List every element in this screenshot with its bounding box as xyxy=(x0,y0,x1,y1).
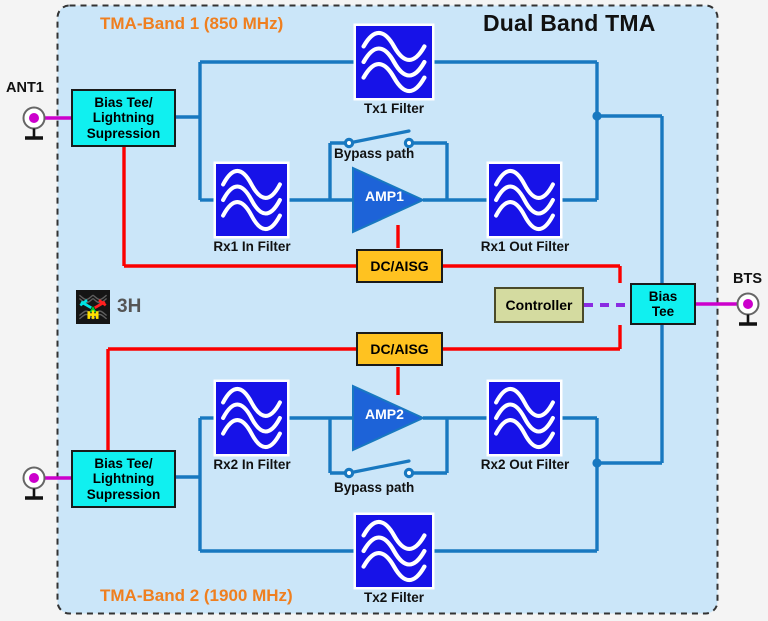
filter-rx2-out-label: Rx2 Out Filter xyxy=(462,457,588,472)
bypass-path-1-label: Bypass path xyxy=(334,146,414,161)
junction-dot-band2 xyxy=(592,458,601,467)
bias-tee-out-line-1: Bias xyxy=(649,289,678,304)
port-symbol-ant2 xyxy=(24,468,45,499)
bias-tee-out-line-2: Tee xyxy=(652,304,674,319)
filter-rx1-out[interactable] xyxy=(489,164,560,236)
block-dc-aisg-2[interactable]: DC/AISG xyxy=(356,332,443,366)
brand-logo: 3H xyxy=(76,290,141,324)
filter-rx2-in-label: Rx2 In Filter xyxy=(195,457,309,472)
filter-tx1[interactable] xyxy=(356,26,432,98)
bias-tee-2-line-1: Bias Tee/ xyxy=(94,456,152,471)
band-2-label: TMA-Band 2 (1900 MHz) xyxy=(100,586,293,606)
port-label-bts: BTS xyxy=(733,271,762,287)
bias-tee-2-line-3: Supression xyxy=(87,487,161,502)
filter-rx1-out-label: Rx1 Out Filter xyxy=(462,239,588,254)
port-symbol-bts xyxy=(738,294,759,325)
filter-tx1-label: Tx1 Filter xyxy=(336,101,452,116)
bypass-path-2-label: Bypass path xyxy=(334,480,414,495)
filter-rx1-in-label: Rx1 In Filter xyxy=(195,239,309,254)
bias-tee-1-line-2: Lightning xyxy=(93,110,154,125)
diagram-canvas: Dual Band TMA TMA-Band 1 (850 MHz) TMA-B… xyxy=(0,0,768,621)
filter-tx2[interactable] xyxy=(356,515,432,587)
filter-rx1-in[interactable] xyxy=(216,164,287,236)
block-bias-tee-output[interactable]: Bias Tee xyxy=(630,283,696,325)
filter-rx2-in[interactable] xyxy=(216,382,287,454)
filter-rx2-out[interactable] xyxy=(489,382,560,454)
logo-text: 3H xyxy=(117,296,141,318)
filter-tx2-label: Tx2 Filter xyxy=(336,590,452,605)
block-bias-tee-lightning-2[interactable]: Bias Tee/ Lightning Supression xyxy=(71,450,176,508)
junction-dot-band1 xyxy=(592,111,601,120)
port-label-ant1: ANT1 xyxy=(6,80,44,96)
bias-tee-1-line-3: Supression xyxy=(87,126,161,141)
block-bias-tee-lightning-1[interactable]: Bias Tee/ Lightning Supression xyxy=(71,89,176,147)
bias-tee-2-line-2: Lightning xyxy=(93,471,154,486)
block-controller[interactable]: Controller xyxy=(494,287,584,323)
port-symbol-ant1 xyxy=(24,108,45,139)
bias-tee-1-line-1: Bias Tee/ xyxy=(94,95,152,110)
band-1-label: TMA-Band 1 (850 MHz) xyxy=(100,14,283,34)
block-dc-aisg-1[interactable]: DC/AISG xyxy=(356,249,443,283)
logo-mark-icon xyxy=(76,290,110,324)
page-title: Dual Band TMA xyxy=(483,10,656,37)
